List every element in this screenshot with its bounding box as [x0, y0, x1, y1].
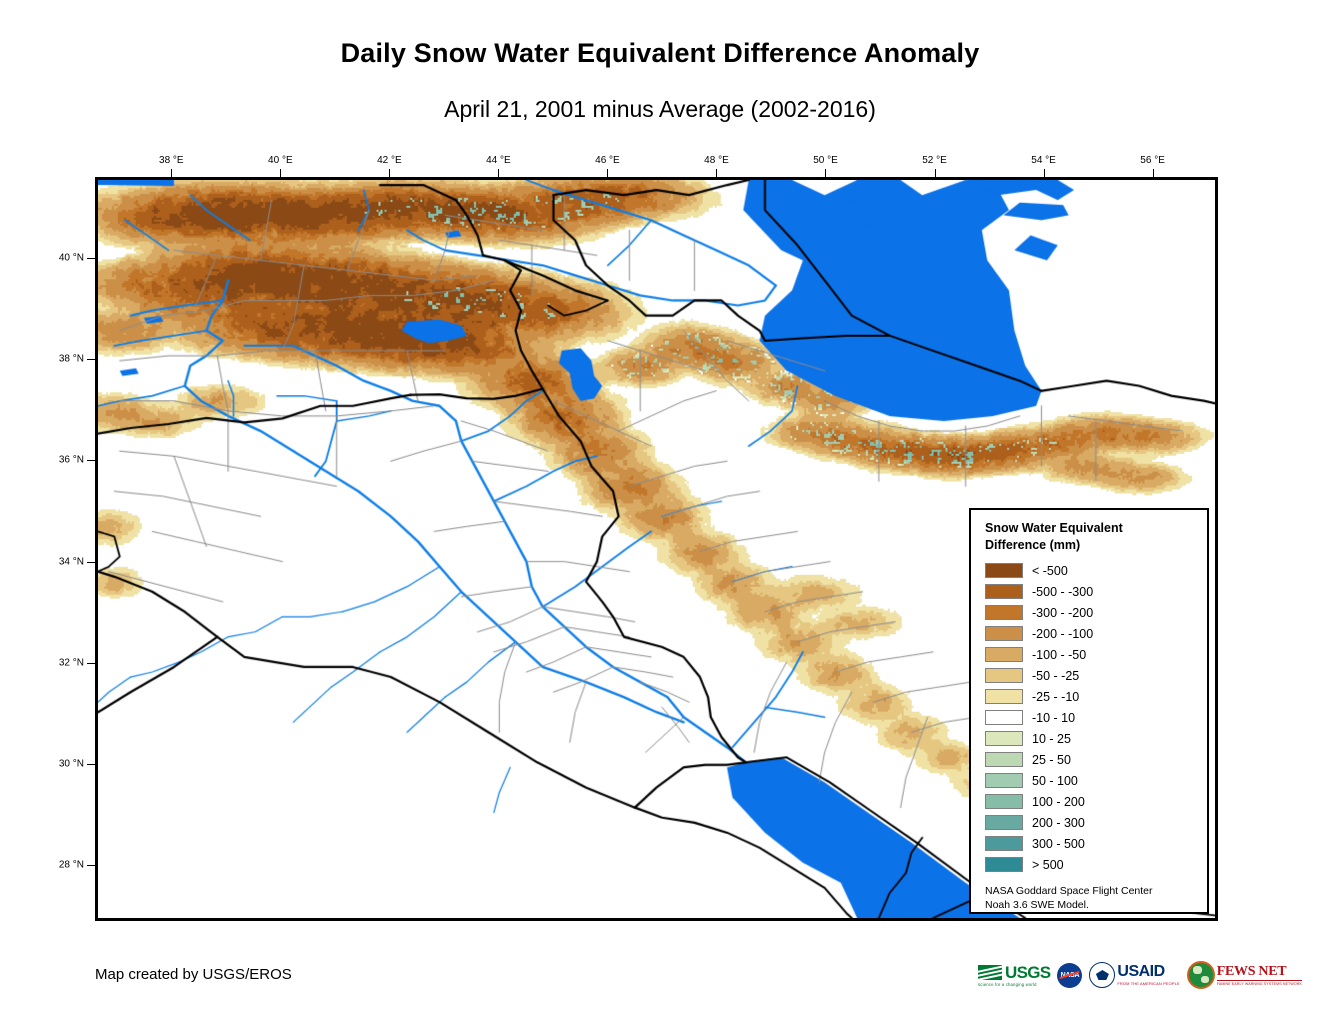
legend-class-label: 50 - 100	[1032, 774, 1078, 788]
lat-label: 30 °N	[38, 759, 84, 770]
lon-label: 56 °E	[1140, 155, 1165, 166]
legend-footer-line2: Noah 3.6 SWE Model.	[985, 899, 1195, 913]
lon-tick	[171, 169, 172, 177]
legend-color-swatch	[985, 857, 1023, 872]
lat-label: 34 °N	[38, 556, 84, 567]
legend-color-swatch	[985, 752, 1023, 767]
nasa-logo-text: NASA	[1061, 972, 1080, 979]
usaid-logo: USAID FROM THE AMERICAN PEOPLE	[1089, 958, 1179, 992]
usaid-logo-text: USAID	[1117, 964, 1164, 980]
usgs-logo: USGS science for a changing world	[978, 958, 1050, 992]
lat-label: 32 °N	[38, 657, 84, 668]
lat-label: 38 °N	[38, 354, 84, 365]
legend-color-swatch	[985, 647, 1023, 662]
lon-tick	[389, 169, 390, 177]
legend-color-swatch	[985, 563, 1023, 578]
fews-net-logo-subtext: FAMINE EARLY WARNING SYSTEMS NETWORK	[1217, 982, 1302, 986]
legend-row: -300 - -200	[985, 602, 1195, 623]
legend-class-label: -300 - -200	[1032, 606, 1093, 620]
legend-color-swatch	[985, 731, 1023, 746]
legend-class-label: 10 - 25	[1032, 732, 1071, 746]
legend-footer-line1: NASA Goddard Space Flight Center	[985, 885, 1195, 899]
legend-row: 200 - 300	[985, 812, 1195, 833]
legend-class-label: > 500	[1032, 858, 1064, 872]
legend-color-swatch	[985, 815, 1023, 830]
legend-class-label: -25 - -10	[1032, 690, 1079, 704]
legend-color-swatch	[985, 668, 1023, 683]
lon-label: 46 °E	[595, 155, 620, 166]
lon-label: 50 °E	[813, 155, 838, 166]
lat-tick	[87, 764, 95, 765]
legend-row: -500 - -300	[985, 581, 1195, 602]
legend-class-label: < -500	[1032, 564, 1068, 578]
lon-tick	[280, 169, 281, 177]
legend-title: Snow Water Equivalent Difference (mm)	[985, 520, 1195, 553]
nasa-meatball-icon: NASA	[1057, 963, 1082, 988]
legend-title-line1: Snow Water Equivalent	[985, 520, 1195, 537]
lon-tick	[607, 169, 608, 177]
lon-label: 40 °E	[268, 155, 293, 166]
legend-row: 10 - 25	[985, 728, 1195, 749]
fews-net-logo-text: FEWS NET	[1217, 965, 1287, 979]
legend-row: -10 - 10	[985, 707, 1195, 728]
legend-color-swatch	[985, 773, 1023, 788]
lon-label: 52 °E	[922, 155, 947, 166]
usaid-seal-icon	[1089, 962, 1115, 988]
page-subtitle: April 21, 2001 minus Average (2002-2016)	[0, 96, 1320, 123]
legend-row: -100 - -50	[985, 644, 1195, 665]
legend-row: -200 - -100	[985, 623, 1195, 644]
lat-label: 40 °N	[38, 252, 84, 263]
legend-panel: Snow Water Equivalent Difference (mm) < …	[969, 508, 1209, 914]
legend-color-swatch	[985, 584, 1023, 599]
legend-footer: NASA Goddard Space Flight Center Noah 3.…	[985, 885, 1195, 912]
agency-logo-bar: USGS science for a changing world NASA U…	[978, 958, 1302, 992]
usaid-logo-subtext: FROM THE AMERICAN PEOPLE	[1117, 981, 1179, 986]
page-title: Daily Snow Water Equivalent Difference A…	[0, 38, 1320, 69]
legend-class-label: -10 - 10	[1032, 711, 1075, 725]
usgs-logo-subtext: science for a changing world	[978, 982, 1037, 987]
lat-tick	[87, 258, 95, 259]
legend-row: 25 - 50	[985, 749, 1195, 770]
legend-class-label: 300 - 500	[1032, 837, 1085, 851]
legend-color-swatch	[985, 710, 1023, 725]
lat-tick	[87, 562, 95, 563]
legend-color-swatch	[985, 605, 1023, 620]
usgs-logo-text: USGS	[1005, 964, 1050, 981]
legend-color-swatch	[985, 836, 1023, 851]
lon-tick	[1044, 169, 1045, 177]
legend-row: < -500	[985, 560, 1195, 581]
legend-color-swatch	[985, 689, 1023, 704]
lon-label: 44 °E	[486, 155, 511, 166]
legend-row: 100 - 200	[985, 791, 1195, 812]
lon-label: 54 °E	[1031, 155, 1056, 166]
fews-globe-icon	[1187, 961, 1215, 989]
lat-label: 36 °N	[38, 455, 84, 466]
legend-class-label: -500 - -300	[1032, 585, 1093, 599]
legend-color-swatch	[985, 794, 1023, 809]
fews-divider	[1217, 980, 1302, 981]
legend-row: 300 - 500	[985, 833, 1195, 854]
map-credit: Map created by USGS/EROS	[95, 966, 292, 983]
legend-class-label: 100 - 200	[1032, 795, 1085, 809]
legend-row: -25 - -10	[985, 686, 1195, 707]
legend-class-label: 200 - 300	[1032, 816, 1085, 830]
lon-tick	[1153, 169, 1154, 177]
lon-label: 48 °E	[704, 155, 729, 166]
fews-net-logo: FEWS NET FAMINE EARLY WARNING SYSTEMS NE…	[1187, 958, 1302, 992]
legend-class-label: -200 - -100	[1032, 627, 1093, 641]
lat-tick	[87, 865, 95, 866]
lon-label: 42 °E	[377, 155, 402, 166]
lat-tick	[87, 663, 95, 664]
legend-title-line2: Difference (mm)	[985, 537, 1195, 554]
nasa-logo: NASA	[1057, 958, 1082, 992]
legend-row: > 500	[985, 854, 1195, 875]
lon-label: 38 °E	[159, 155, 184, 166]
legend-class-label: -50 - -25	[1032, 669, 1079, 683]
legend-row: 50 - 100	[985, 770, 1195, 791]
legend-class-label: -100 - -50	[1032, 648, 1086, 662]
legend-class-list: < -500-500 - -300-300 - -200-200 - -100-…	[985, 560, 1195, 875]
lon-tick	[716, 169, 717, 177]
lon-tick	[935, 169, 936, 177]
legend-row: -50 - -25	[985, 665, 1195, 686]
lat-label: 28 °N	[38, 860, 84, 871]
lon-tick	[825, 169, 826, 177]
lat-tick	[87, 359, 95, 360]
legend-class-label: 25 - 50	[1032, 753, 1071, 767]
lon-tick	[498, 169, 499, 177]
usgs-wave-icon	[978, 965, 1002, 980]
lat-tick	[87, 460, 95, 461]
legend-color-swatch	[985, 626, 1023, 641]
